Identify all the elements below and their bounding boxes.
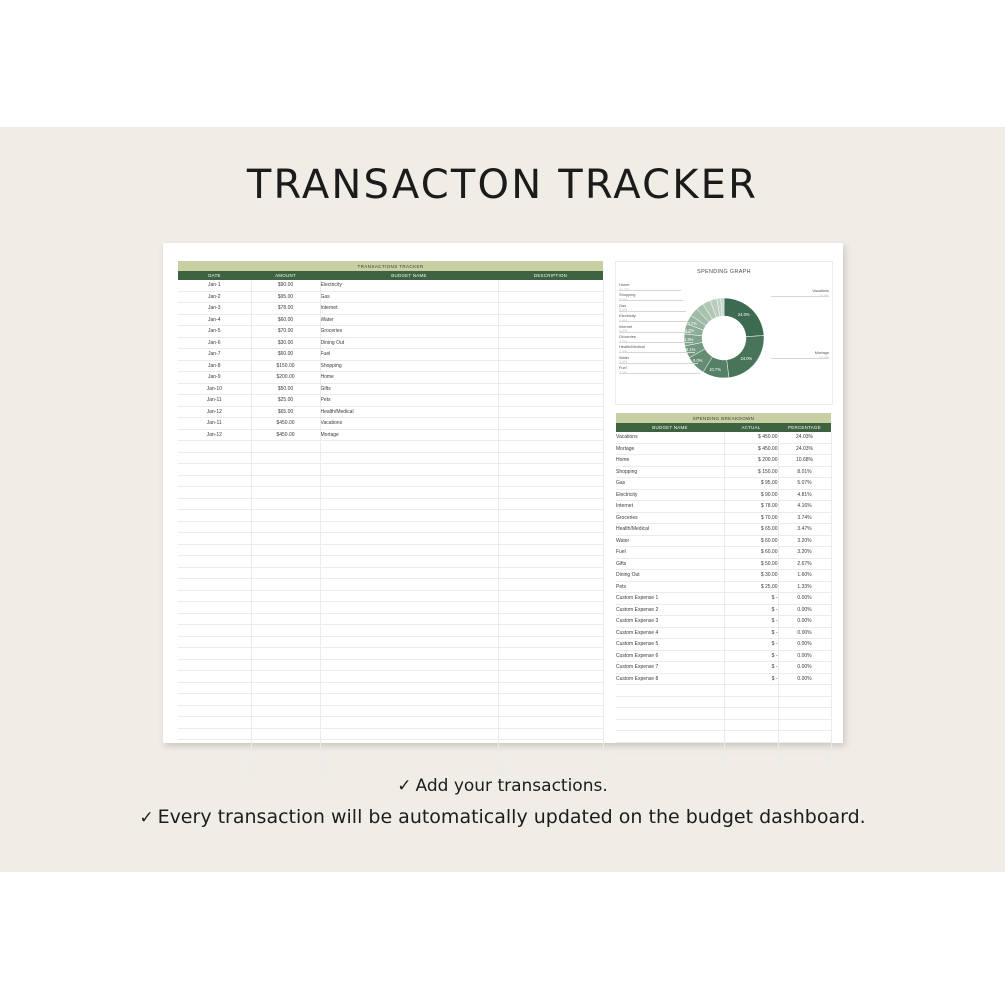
cell-amount[interactable]: $50.00 <box>251 383 320 395</box>
cell-budget[interactable] <box>320 579 498 591</box>
cell-name[interactable]: Custom Expense 3 <box>616 616 724 628</box>
breakdown-col-header-1[interactable]: ACTUAL <box>724 423 778 432</box>
cell-budget[interactable]: Shopping <box>320 360 498 372</box>
cell-description[interactable] <box>498 590 603 602</box>
cell-name[interactable]: Custom Expense 6 <box>616 650 724 662</box>
cell-amount[interactable]: $65.00 <box>251 406 320 418</box>
table-row[interactable] <box>616 754 831 766</box>
cell-actual[interactable]: $ 450.00 <box>724 443 778 455</box>
cell-name[interactable]: Dining Out <box>616 570 724 582</box>
cell-budget[interactable] <box>320 659 498 671</box>
table-row[interactable]: Jan-4$60.00Water <box>178 314 603 326</box>
cell-amount[interactable] <box>251 682 320 694</box>
table-row[interactable]: Jan-10$50.00Gifts <box>178 383 603 395</box>
cell-name[interactable]: Custom Expense 7 <box>616 662 724 674</box>
cell-actual[interactable]: $ - <box>724 662 778 674</box>
table-row[interactable]: Dining Out$ 30.001.60% <box>616 570 831 582</box>
cell-date[interactable] <box>178 625 251 637</box>
cell-date[interactable]: Jan-10 <box>178 383 251 395</box>
table-row[interactable] <box>178 590 603 602</box>
cell-budget[interactable] <box>320 728 498 740</box>
cell-name[interactable] <box>616 719 724 731</box>
cell-amount[interactable]: $25.00 <box>251 395 320 407</box>
cell-date[interactable]: Jan-12 <box>178 406 251 418</box>
cell-budget[interactable] <box>320 498 498 510</box>
cell-description[interactable] <box>498 441 603 453</box>
cell-percentage[interactable]: 3.74% <box>778 512 831 524</box>
cell-budget[interactable] <box>320 613 498 625</box>
cell-description[interactable] <box>498 326 603 338</box>
cell-name[interactable]: Groceries <box>616 512 724 524</box>
table-row[interactable]: Jan-11$25.00Pets <box>178 395 603 407</box>
cell-percentage[interactable]: 4.81% <box>778 489 831 501</box>
cell-name[interactable]: Custom Expense 5 <box>616 639 724 651</box>
cell-description[interactable] <box>498 625 603 637</box>
cell-name[interactable] <box>616 708 724 720</box>
cell-budget[interactable]: Gas <box>320 291 498 303</box>
cell-amount[interactable]: $78.00 <box>251 303 320 315</box>
table-row[interactable]: Custom Expense 5$ -0.00% <box>616 639 831 651</box>
cell-budget[interactable] <box>320 625 498 637</box>
cell-actual[interactable]: $ 78.00 <box>724 501 778 513</box>
cell-date[interactable] <box>178 694 251 706</box>
table-row[interactable]: Jan-8$150.00Shopping <box>178 360 603 372</box>
cell-percentage[interactable]: 0.00% <box>778 673 831 685</box>
cell-description[interactable] <box>498 314 603 326</box>
cell-actual[interactable] <box>724 708 778 720</box>
cell-date[interactable] <box>178 613 251 625</box>
table-row[interactable]: Shopping$ 150.008.01% <box>616 466 831 478</box>
cell-description[interactable] <box>498 705 603 717</box>
cell-actual[interactable]: $ 25.00 <box>724 581 778 593</box>
cell-date[interactable] <box>178 671 251 683</box>
cell-budget[interactable] <box>320 544 498 556</box>
cell-description[interactable] <box>498 636 603 648</box>
cell-amount[interactable]: $450.00 <box>251 418 320 430</box>
table-row[interactable]: Custom Expense 2$ -0.00% <box>616 604 831 616</box>
cell-amount[interactable] <box>251 763 320 775</box>
cell-budget[interactable]: Internet <box>320 303 498 315</box>
cell-amount[interactable]: $150.00 <box>251 360 320 372</box>
cell-name[interactable]: Custom Expense 4 <box>616 627 724 639</box>
cell-name[interactable]: Custom Expense 1 <box>616 593 724 605</box>
table-row[interactable]: Fuel$ 60.003.20% <box>616 547 831 559</box>
cell-actual[interactable] <box>724 696 778 708</box>
cell-description[interactable] <box>498 303 603 315</box>
table-row[interactable]: Pets$ 25.001.33% <box>616 581 831 593</box>
table-row[interactable]: Jan-3$78.00Internet <box>178 303 603 315</box>
cell-description[interactable] <box>498 533 603 545</box>
cell-percentage[interactable]: 3.20% <box>778 535 831 547</box>
cell-amount[interactable] <box>251 659 320 671</box>
table-row[interactable] <box>178 705 603 717</box>
cell-amount[interactable] <box>251 498 320 510</box>
table-row[interactable] <box>178 475 603 487</box>
cell-actual[interactable]: $ - <box>724 593 778 605</box>
cell-percentage[interactable]: 3.47% <box>778 524 831 536</box>
cell-date[interactable] <box>178 590 251 602</box>
cell-percentage[interactable]: 0.00% <box>778 616 831 628</box>
cell-name[interactable]: Gas <box>616 478 724 490</box>
cell-name[interactable]: Pets <box>616 581 724 593</box>
cell-budget[interactable]: Dining Out <box>320 337 498 349</box>
table-row[interactable] <box>178 441 603 453</box>
table-row[interactable] <box>178 487 603 499</box>
cell-budget[interactable] <box>320 510 498 522</box>
table-row[interactable]: Water$ 60.003.20% <box>616 535 831 547</box>
cell-amount[interactable] <box>251 671 320 683</box>
table-row[interactable]: Jan-12$65.00Health/Medical <box>178 406 603 418</box>
cell-budget[interactable] <box>320 452 498 464</box>
cell-date[interactable] <box>178 763 251 775</box>
cell-actual[interactable]: $ 70.00 <box>724 512 778 524</box>
table-row[interactable]: Internet$ 78.004.16% <box>616 501 831 513</box>
cell-percentage[interactable] <box>778 708 831 720</box>
table-row[interactable]: Custom Expense 6$ -0.00% <box>616 650 831 662</box>
cell-description[interactable] <box>498 406 603 418</box>
table-row[interactable] <box>616 708 831 720</box>
table-row[interactable] <box>178 625 603 637</box>
cell-name[interactable]: Health/Medical <box>616 524 724 536</box>
cell-percentage[interactable]: 0.00% <box>778 593 831 605</box>
cell-description[interactable] <box>498 349 603 361</box>
table-row[interactable]: Health/Medical$ 65.003.47% <box>616 524 831 536</box>
cell-description[interactable] <box>498 579 603 591</box>
cell-description[interactable] <box>498 567 603 579</box>
cell-budget[interactable] <box>320 487 498 499</box>
transactions-col-header-1[interactable]: AMOUNT <box>251 271 320 280</box>
cell-description[interactable] <box>498 544 603 556</box>
cell-description[interactable] <box>498 728 603 740</box>
cell-description[interactable] <box>498 510 603 522</box>
cell-description[interactable] <box>498 521 603 533</box>
cell-amount[interactable] <box>251 452 320 464</box>
cell-percentage[interactable]: 0.00% <box>778 662 831 674</box>
table-row[interactable] <box>178 740 603 752</box>
cell-amount[interactable]: $95.00 <box>251 291 320 303</box>
cell-amount[interactable]: $450.00 <box>251 429 320 441</box>
cell-amount[interactable]: $60.00 <box>251 349 320 361</box>
cell-percentage[interactable] <box>778 742 831 754</box>
cell-description[interactable] <box>498 602 603 614</box>
cell-amount[interactable] <box>251 544 320 556</box>
cell-description[interactable] <box>498 671 603 683</box>
cell-budget[interactable]: Fuel <box>320 349 498 361</box>
cell-actual[interactable]: $ 30.00 <box>724 570 778 582</box>
cell-description[interactable] <box>498 740 603 752</box>
cell-name[interactable]: Fuel <box>616 547 724 559</box>
cell-amount[interactable] <box>251 567 320 579</box>
cell-percentage[interactable]: 2.67% <box>778 558 831 570</box>
table-row[interactable] <box>178 567 603 579</box>
cell-description[interactable] <box>498 613 603 625</box>
cell-actual[interactable]: $ - <box>724 639 778 651</box>
cell-name[interactable]: Internet <box>616 501 724 513</box>
table-row[interactable]: Gas$ 95.005.07% <box>616 478 831 490</box>
table-row[interactable] <box>178 579 603 591</box>
cell-date[interactable] <box>178 464 251 476</box>
cell-budget[interactable] <box>320 475 498 487</box>
cell-percentage[interactable]: 0.00% <box>778 639 831 651</box>
cell-name[interactable]: Shopping <box>616 466 724 478</box>
cell-amount[interactable]: $30.00 <box>251 337 320 349</box>
cell-percentage[interactable]: 0.00% <box>778 650 831 662</box>
cell-budget[interactable] <box>320 648 498 660</box>
cell-actual[interactable]: $ - <box>724 673 778 685</box>
cell-name[interactable] <box>616 696 724 708</box>
cell-date[interactable] <box>178 556 251 568</box>
cell-budget[interactable] <box>320 441 498 453</box>
table-row[interactable]: Jan-7$60.00Fuel <box>178 349 603 361</box>
cell-amount[interactable] <box>251 717 320 729</box>
table-row[interactable]: Jan-6$30.00Dining Out <box>178 337 603 349</box>
cell-percentage[interactable]: 1.33% <box>778 581 831 593</box>
breakdown-body[interactable]: Vacations$ 450.0024.03%Mortage$ 450.0024… <box>616 432 831 765</box>
table-row[interactable]: Home$ 200.0010.68% <box>616 455 831 467</box>
cell-actual[interactable]: $ - <box>724 616 778 628</box>
table-row[interactable]: Jan-5$70.00Groceries <box>178 326 603 338</box>
cell-date[interactable]: Jan-6 <box>178 337 251 349</box>
table-row[interactable]: Custom Expense 1$ -0.00% <box>616 593 831 605</box>
cell-date[interactable] <box>178 682 251 694</box>
cell-actual[interactable]: $ 95.00 <box>724 478 778 490</box>
cell-budget[interactable]: Gifts <box>320 383 498 395</box>
cell-description[interactable] <box>498 556 603 568</box>
cell-amount[interactable] <box>251 579 320 591</box>
cell-actual[interactable]: $ - <box>724 604 778 616</box>
cell-date[interactable]: Jan-5 <box>178 326 251 338</box>
cell-description[interactable] <box>498 429 603 441</box>
spending-breakdown-table[interactable]: SPENDING BREAKDOWN BUDGET NAMEACTUALPERC… <box>616 413 832 766</box>
cell-description[interactable] <box>498 751 603 763</box>
cell-description[interactable] <box>498 464 603 476</box>
cell-budget[interactable] <box>320 521 498 533</box>
cell-actual[interactable]: $ 200.00 <box>724 455 778 467</box>
cell-date[interactable] <box>178 533 251 545</box>
cell-budget[interactable] <box>320 717 498 729</box>
table-row[interactable] <box>178 671 603 683</box>
cell-date[interactable]: Jan-9 <box>178 372 251 384</box>
cell-percentage[interactable]: 5.07% <box>778 478 831 490</box>
cell-name[interactable]: Custom Expense 2 <box>616 604 724 616</box>
cell-description[interactable] <box>498 475 603 487</box>
cell-budget[interactable] <box>320 464 498 476</box>
table-row[interactable] <box>178 694 603 706</box>
transactions-table[interactable]: TRANSACTIONS TRACKER DATEAMOUNTBUDGET NA… <box>178 261 604 775</box>
cell-name[interactable]: Water <box>616 535 724 547</box>
table-row[interactable] <box>178 498 603 510</box>
cell-date[interactable] <box>178 648 251 660</box>
cell-description[interactable] <box>498 694 603 706</box>
table-row[interactable]: Vacations$ 450.0024.03% <box>616 432 831 443</box>
cell-percentage[interactable]: 8.01% <box>778 466 831 478</box>
breakdown-col-header-2[interactable]: PERCENTAGE <box>778 423 831 432</box>
table-row[interactable] <box>178 659 603 671</box>
cell-description[interactable] <box>498 659 603 671</box>
cell-amount[interactable] <box>251 740 320 752</box>
table-row[interactable] <box>178 556 603 568</box>
cell-budget[interactable]: Pets <box>320 395 498 407</box>
cell-percentage[interactable]: 10.68% <box>778 455 831 467</box>
cell-amount[interactable] <box>251 636 320 648</box>
cell-amount[interactable] <box>251 533 320 545</box>
table-row[interactable]: Custom Expense 4$ -0.00% <box>616 627 831 639</box>
cell-amount[interactable] <box>251 613 320 625</box>
table-row[interactable] <box>178 464 603 476</box>
cell-percentage[interactable]: 24.03% <box>778 432 831 443</box>
cell-actual[interactable] <box>724 685 778 697</box>
cell-name[interactable] <box>616 742 724 754</box>
table-row[interactable] <box>178 452 603 464</box>
cell-description[interactable] <box>498 763 603 775</box>
cell-date[interactable] <box>178 740 251 752</box>
cell-name[interactable]: Vacations <box>616 432 724 443</box>
cell-name[interactable]: Mortage <box>616 443 724 455</box>
cell-amount[interactable] <box>251 705 320 717</box>
cell-budget[interactable]: Home <box>320 372 498 384</box>
table-row[interactable]: Jan-11$450.00Vacations <box>178 418 603 430</box>
table-row[interactable] <box>178 636 603 648</box>
cell-name[interactable]: Home <box>616 455 724 467</box>
cell-date[interactable] <box>178 567 251 579</box>
cell-budget[interactable] <box>320 533 498 545</box>
cell-percentage[interactable] <box>778 731 831 743</box>
cell-budget[interactable] <box>320 740 498 752</box>
table-row[interactable] <box>178 648 603 660</box>
table-row[interactable]: Jan-2$95.00Gas <box>178 291 603 303</box>
cell-description[interactable] <box>498 337 603 349</box>
cell-description[interactable] <box>498 682 603 694</box>
cell-budget[interactable] <box>320 590 498 602</box>
cell-percentage[interactable]: 3.20% <box>778 547 831 559</box>
cell-amount[interactable]: $200.00 <box>251 372 320 384</box>
cell-budget[interactable] <box>320 556 498 568</box>
transactions-body[interactable]: Jan-1$90.00ElectricityJan-2$95.00GasJan-… <box>178 280 603 774</box>
cell-date[interactable]: Jan-2 <box>178 291 251 303</box>
cell-percentage[interactable] <box>778 719 831 731</box>
cell-actual[interactable]: $ 450.00 <box>724 432 778 443</box>
cell-date[interactable] <box>178 452 251 464</box>
transactions-col-header-2[interactable]: BUDGET NAME <box>320 271 498 280</box>
cell-amount[interactable] <box>251 487 320 499</box>
table-row[interactable] <box>178 521 603 533</box>
cell-percentage[interactable]: 0.00% <box>778 604 831 616</box>
cell-budget[interactable]: Electricity <box>320 280 498 291</box>
cell-amount[interactable] <box>251 648 320 660</box>
cell-actual[interactable]: $ 150.00 <box>724 466 778 478</box>
cell-date[interactable] <box>178 579 251 591</box>
cell-date[interactable] <box>178 717 251 729</box>
cell-date[interactable] <box>178 544 251 556</box>
cell-amount[interactable] <box>251 521 320 533</box>
table-row[interactable] <box>616 742 831 754</box>
table-row[interactable]: Custom Expense 3$ -0.00% <box>616 616 831 628</box>
cell-actual[interactable]: $ 50.00 <box>724 558 778 570</box>
cell-description[interactable] <box>498 291 603 303</box>
table-row[interactable]: Jan-12$450.00Mortage <box>178 429 603 441</box>
cell-amount[interactable] <box>251 751 320 763</box>
cell-budget[interactable]: Mortage <box>320 429 498 441</box>
cell-actual[interactable]: $ - <box>724 650 778 662</box>
cell-percentage[interactable] <box>778 754 831 766</box>
cell-date[interactable] <box>178 602 251 614</box>
cell-date[interactable] <box>178 475 251 487</box>
table-row[interactable] <box>178 682 603 694</box>
cell-percentage[interactable]: 0.00% <box>778 627 831 639</box>
cell-amount[interactable] <box>251 590 320 602</box>
table-row[interactable] <box>616 731 831 743</box>
cell-amount[interactable]: $60.00 <box>251 314 320 326</box>
table-row[interactable] <box>616 685 831 697</box>
table-row[interactable] <box>178 613 603 625</box>
cell-date[interactable]: Jan-8 <box>178 360 251 372</box>
table-row[interactable]: Gifts$ 50.002.67% <box>616 558 831 570</box>
cell-date[interactable]: Jan-7 <box>178 349 251 361</box>
cell-description[interactable] <box>498 717 603 729</box>
cell-amount[interactable] <box>251 441 320 453</box>
cell-percentage[interactable] <box>778 685 831 697</box>
cell-amount[interactable] <box>251 464 320 476</box>
cell-percentage[interactable]: 24.03% <box>778 443 831 455</box>
cell-date[interactable] <box>178 636 251 648</box>
table-row[interactable]: Mortage$ 450.0024.03% <box>616 443 831 455</box>
cell-date[interactable] <box>178 441 251 453</box>
table-row[interactable] <box>178 510 603 522</box>
table-row[interactable] <box>616 719 831 731</box>
table-row[interactable]: Custom Expense 7$ -0.00% <box>616 662 831 674</box>
cell-date[interactable] <box>178 659 251 671</box>
table-row[interactable] <box>178 602 603 614</box>
cell-date[interactable] <box>178 510 251 522</box>
cell-percentage[interactable]: 1.60% <box>778 570 831 582</box>
cell-name[interactable]: Electricity <box>616 489 724 501</box>
cell-amount[interactable] <box>251 556 320 568</box>
cell-description[interactable] <box>498 418 603 430</box>
cell-budget[interactable] <box>320 602 498 614</box>
cell-date[interactable]: Jan-4 <box>178 314 251 326</box>
cell-date[interactable] <box>178 751 251 763</box>
cell-name[interactable]: Custom Expense 8 <box>616 673 724 685</box>
cell-date[interactable] <box>178 487 251 499</box>
cell-description[interactable] <box>498 383 603 395</box>
cell-date[interactable] <box>178 705 251 717</box>
table-row[interactable] <box>178 728 603 740</box>
cell-description[interactable] <box>498 487 603 499</box>
cell-budget[interactable] <box>320 694 498 706</box>
cell-amount[interactable] <box>251 728 320 740</box>
cell-actual[interactable]: $ 90.00 <box>724 489 778 501</box>
cell-name[interactable] <box>616 754 724 766</box>
transactions-col-header-3[interactable]: DESCRIPTION <box>498 271 603 280</box>
cell-description[interactable] <box>498 498 603 510</box>
cell-name[interactable] <box>616 731 724 743</box>
cell-actual[interactable] <box>724 742 778 754</box>
cell-actual[interactable]: $ 65.00 <box>724 524 778 536</box>
cell-description[interactable] <box>498 372 603 384</box>
table-row[interactable] <box>178 751 603 763</box>
table-row[interactable]: Groceries$ 70.003.74% <box>616 512 831 524</box>
table-row[interactable] <box>616 696 831 708</box>
cell-budget[interactable]: Vacations <box>320 418 498 430</box>
table-row[interactable]: Custom Expense 8$ -0.00% <box>616 673 831 685</box>
cell-amount[interactable] <box>251 510 320 522</box>
cell-description[interactable] <box>498 452 603 464</box>
cell-amount[interactable] <box>251 475 320 487</box>
cell-description[interactable] <box>498 648 603 660</box>
cell-name[interactable] <box>616 685 724 697</box>
cell-date[interactable] <box>178 521 251 533</box>
table-row[interactable] <box>178 763 603 775</box>
